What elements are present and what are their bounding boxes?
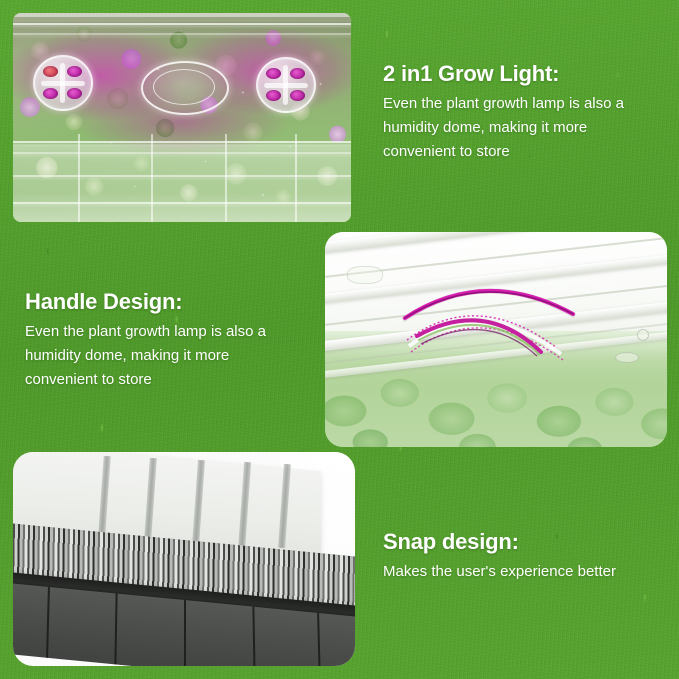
feature-text-grow-light: 2 in1 Grow Light: Even the plant growth … [383, 62, 653, 164]
feature-body-snap: Makes the user's experience better [383, 560, 663, 584]
photo-snap-design [13, 452, 355, 666]
condensation-droplets [13, 13, 351, 222]
photo-handle-design [325, 232, 667, 447]
carry-handle-graphic [325, 232, 667, 447]
feature-title-snap: Snap design: [383, 530, 663, 554]
tray-divider [317, 613, 321, 666]
feature-title-grow-light: 2 in1 Grow Light: [383, 62, 653, 86]
feature-title-handle: Handle Design: [25, 290, 300, 314]
tray-divider [45, 586, 49, 657]
feature-text-snap: Snap design: Makes the user's experience… [383, 530, 663, 584]
tray-divider [115, 593, 118, 664]
dome-vent-dot [637, 329, 649, 341]
photo-grow-light [13, 13, 351, 222]
feature-body-grow-light: Even the plant growth lamp is also a hum… [383, 92, 653, 164]
tray-divider [252, 606, 255, 666]
feature-text-handle: Handle Design: Even the plant growth lam… [25, 290, 300, 392]
dome-corner-curve [347, 266, 383, 284]
feature-body-handle: Even the plant growth lamp is also a hum… [25, 320, 300, 392]
tray-divider [184, 600, 186, 666]
